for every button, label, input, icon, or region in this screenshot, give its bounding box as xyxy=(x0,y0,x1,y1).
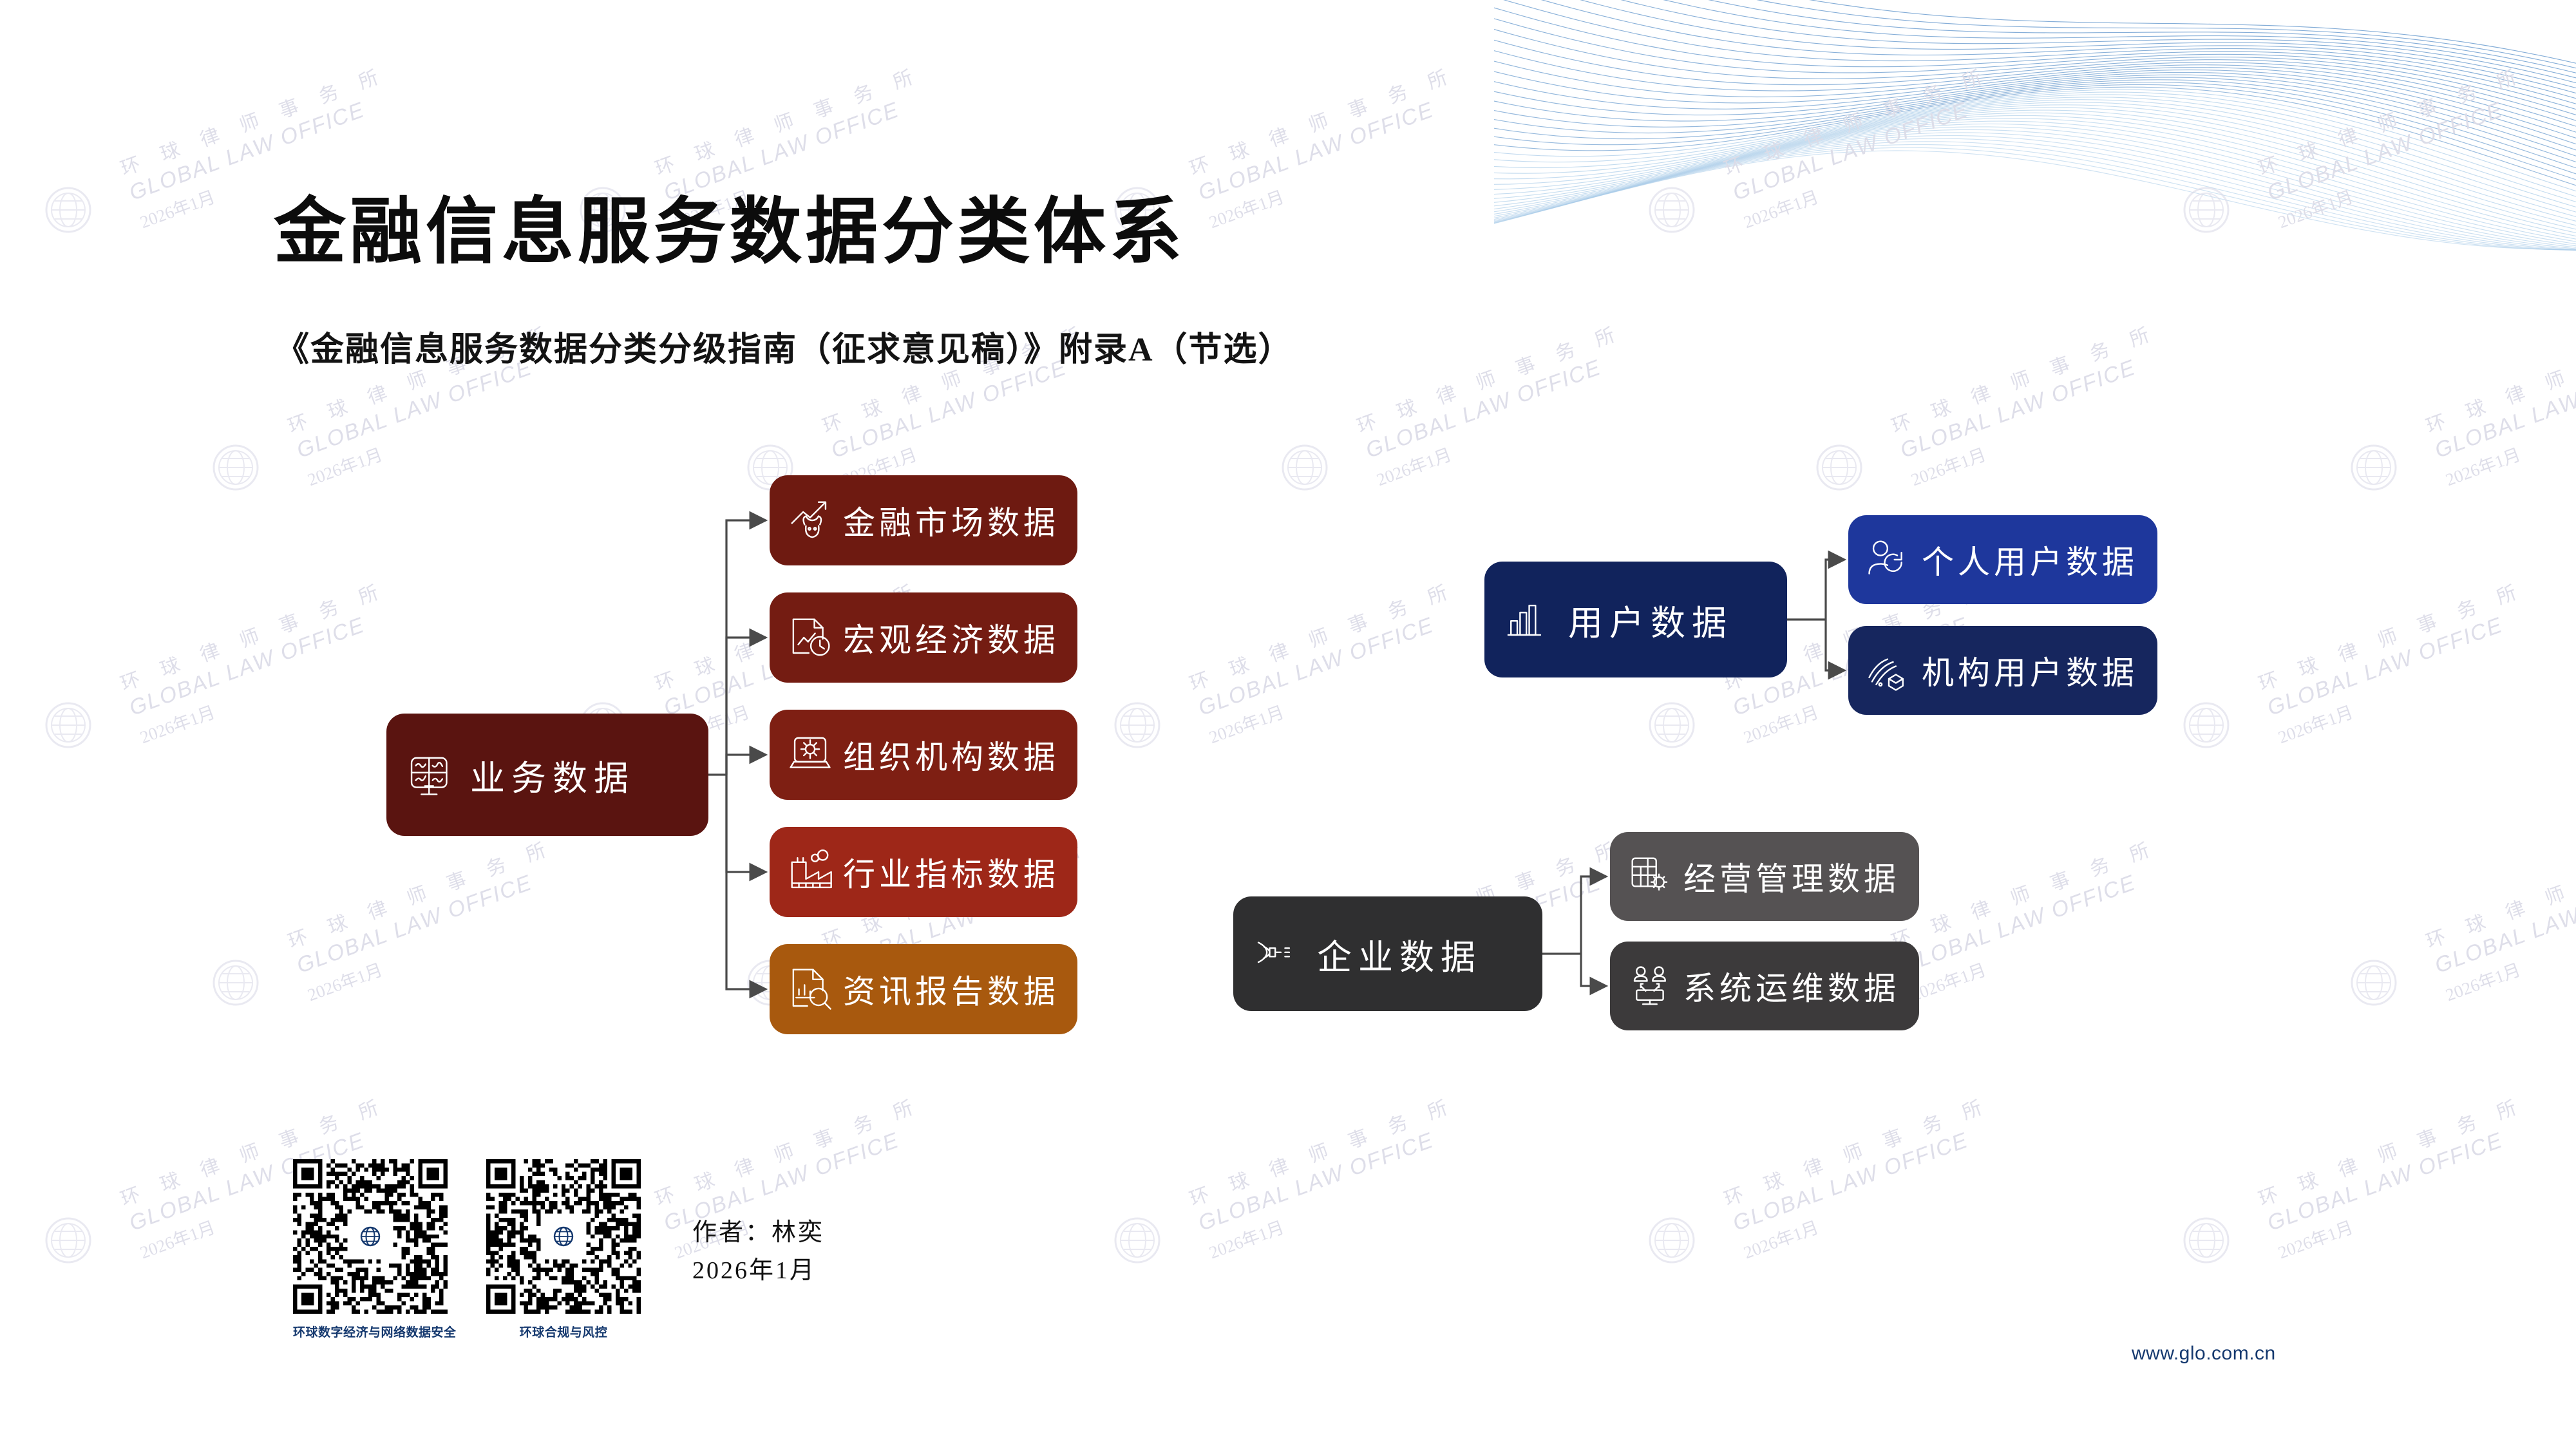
author-date: 2026年1月 xyxy=(692,1252,824,1290)
node-label: 资讯报告数据 xyxy=(843,966,1059,1012)
node-label: 机构用户数据 xyxy=(1922,647,2138,694)
qr-code-image-1[interactable] xyxy=(293,1159,448,1314)
users-system-icon xyxy=(1627,962,1674,1010)
node-child-enterprise-2[interactable]: 系统运维数据 xyxy=(1610,942,1919,1030)
node-root-user[interactable]: 用户数据 xyxy=(1484,562,1787,677)
author-block: 作者：林奕 2026年1月 xyxy=(692,1214,824,1290)
node-child-user-1[interactable]: 个人用户数据 xyxy=(1848,515,2157,604)
node-child-business-5[interactable]: 资讯报告数据 xyxy=(770,944,1077,1034)
node-label: 宏观经济数据 xyxy=(843,614,1059,661)
qr-code-block-2[interactable]: 环球合规与风控 xyxy=(486,1159,641,1340)
factory-icon xyxy=(786,848,834,896)
qr-caption-1: 环球数字经济与网络数据安全 xyxy=(293,1323,457,1340)
network-cube-icon xyxy=(1865,647,1913,694)
node-label: 企业数据 xyxy=(1317,929,1482,980)
node-child-business-2[interactable]: 宏观经济数据 xyxy=(770,592,1077,683)
table-gear-icon xyxy=(1627,853,1674,900)
node-label: 用户数据 xyxy=(1568,594,1733,645)
node-label: 行业指标数据 xyxy=(843,849,1059,895)
node-label: 个人用户数据 xyxy=(1922,536,2138,583)
globe-icon xyxy=(549,1222,578,1251)
node-child-user-2[interactable]: 机构用户数据 xyxy=(1848,626,2157,715)
person-profile-icon xyxy=(1865,536,1913,583)
node-child-business-1[interactable]: 金融市场数据 xyxy=(770,475,1077,565)
node-child-business-3[interactable]: 组织机构数据 xyxy=(770,710,1077,800)
node-label: 金融市场数据 xyxy=(843,497,1059,544)
node-child-enterprise-1[interactable]: 经营管理数据 xyxy=(1610,832,1919,921)
bull-trend-icon xyxy=(786,497,834,544)
document-search-icon xyxy=(786,965,834,1013)
node-label: 经营管理数据 xyxy=(1683,853,1900,900)
node-label: 组织机构数据 xyxy=(843,732,1059,778)
qr-logo-badge xyxy=(354,1220,387,1253)
qr-logo-badge xyxy=(547,1220,580,1253)
node-label: 业务数据 xyxy=(470,750,635,800)
qr-code-block-1[interactable]: 环球数字经济与网络数据安全 xyxy=(293,1159,457,1340)
node-root-enterprise[interactable]: 企业数据 xyxy=(1233,896,1542,1011)
page-title: 金融信息服务数据分类体系 xyxy=(274,193,1186,272)
qr-code-image-2[interactable] xyxy=(486,1159,641,1314)
node-root-business[interactable]: 业务数据 xyxy=(386,714,708,836)
laptop-gear-icon xyxy=(786,731,834,779)
dashboard-monitor-icon xyxy=(403,751,451,799)
globe-icon xyxy=(356,1222,384,1251)
page-subtitle: 《金融信息服务数据分类分级指南（征求意见稿）》附录A（节选） xyxy=(276,322,1293,370)
website-link[interactable]: www.glo.com.cn xyxy=(2132,1343,2276,1365)
node-label: 系统运维数据 xyxy=(1683,963,1900,1009)
plug-connect-icon xyxy=(1250,930,1298,978)
node-child-business-4[interactable]: 行业指标数据 xyxy=(770,827,1077,917)
bar-chart-icon xyxy=(1501,596,1549,643)
qr-caption-2: 环球合规与风控 xyxy=(486,1323,641,1340)
author-name: 作者：林奕 xyxy=(692,1214,824,1252)
report-clock-icon xyxy=(786,614,834,661)
